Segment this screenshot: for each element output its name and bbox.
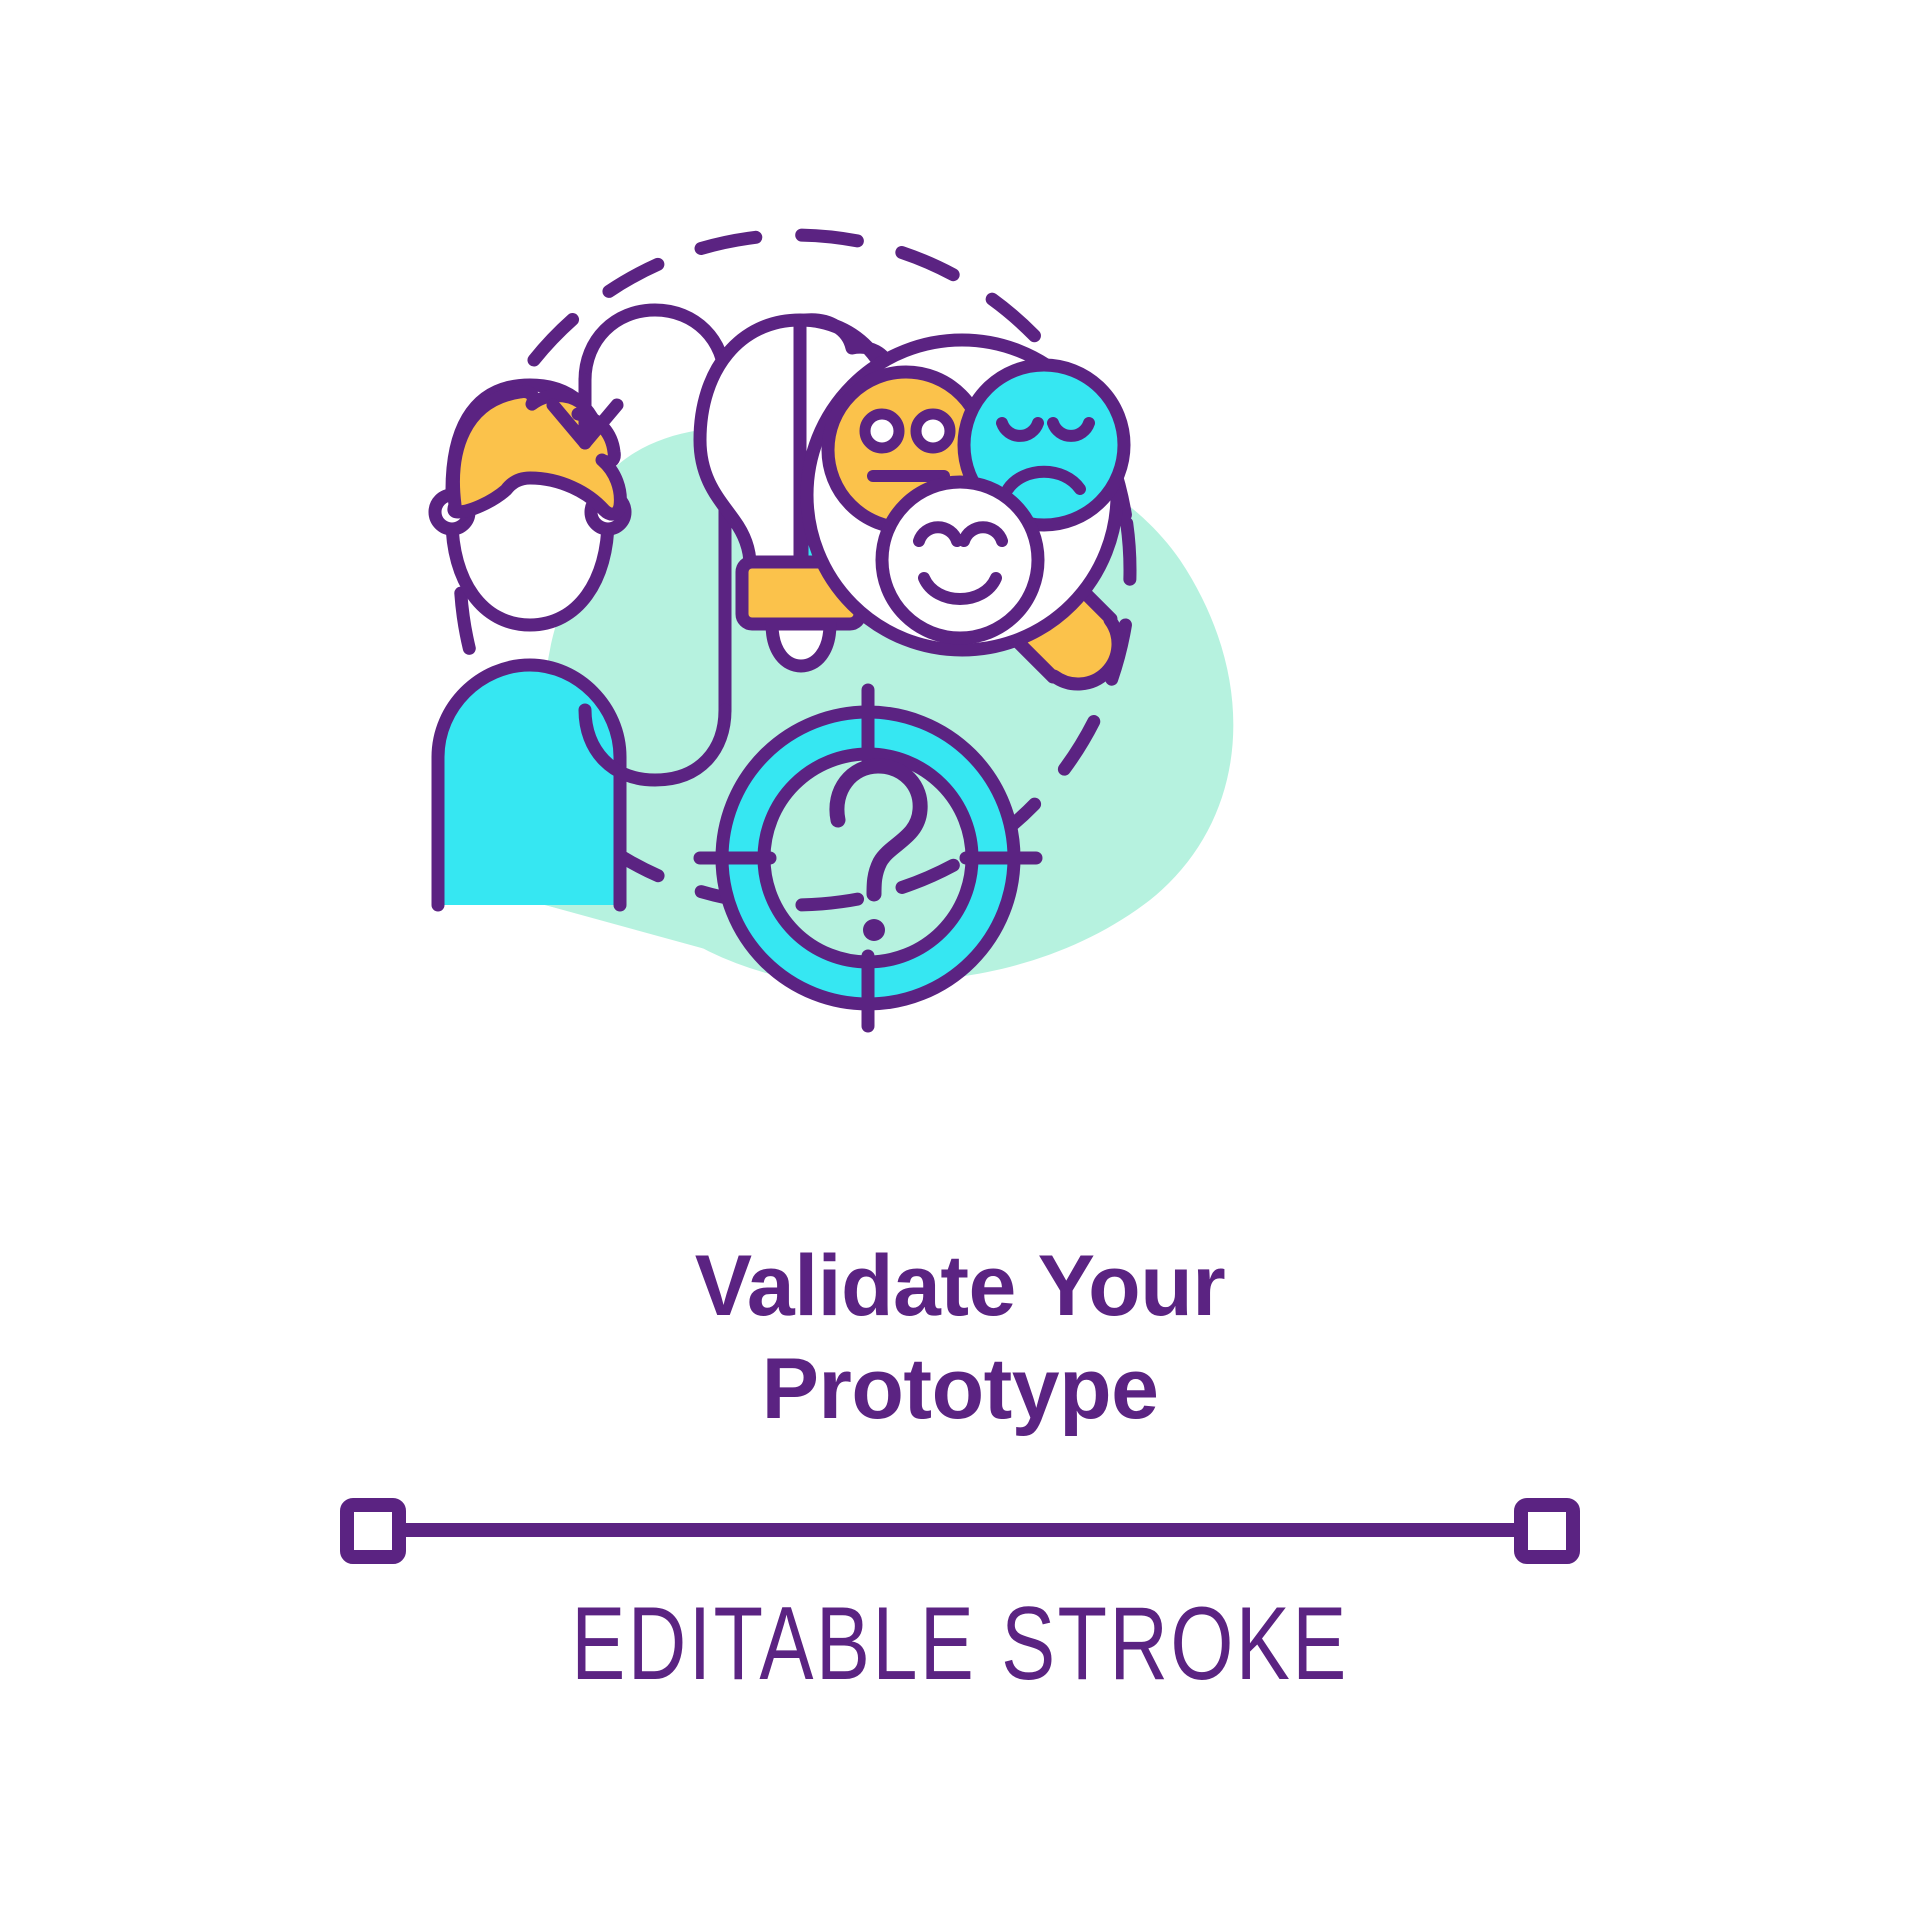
square-handle-right[interactable] xyxy=(1521,1505,1573,1557)
square-handle-left[interactable] xyxy=(347,1505,399,1557)
concept-title-line-2: Prototype xyxy=(0,1338,1920,1441)
concept-title-line-1: Validate Your xyxy=(695,1238,1225,1334)
editable-stroke-divider xyxy=(347,1505,1573,1557)
emoji-happy xyxy=(882,482,1038,638)
concept-icon-page: Validate Your Prototype EDITABLE STROKE xyxy=(0,0,1920,1920)
concept-title: Validate Your Prototype xyxy=(0,1235,1920,1441)
editable-stroke-label: EDITABLE STROKE xyxy=(211,1588,1709,1700)
